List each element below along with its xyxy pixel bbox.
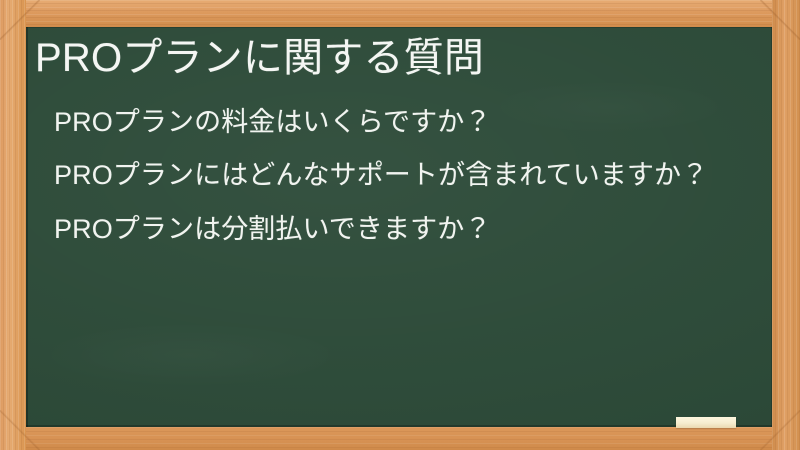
chalkboard-slide: PROプランに関する質問 PROプランの料金はいくらですか？ PROプランにはど… bbox=[0, 0, 800, 450]
frame-rail-right bbox=[772, 0, 800, 450]
page-title: PROプランに関する質問 bbox=[35, 33, 745, 83]
frame-rail-bottom bbox=[0, 427, 800, 450]
chalkboard-surface: PROプランに関する質問 PROプランの料金はいくらですか？ PROプランにはど… bbox=[26, 27, 772, 427]
list-item: PROプランにはどんなサポートが含まれていますか？ bbox=[54, 156, 754, 194]
question-list: PROプランの料金はいくらですか？ PROプランにはどんなサポートが含まれていま… bbox=[54, 103, 754, 248]
chalkboard-content: PROプランに関する質問 PROプランの料金はいくらですか？ PROプランにはど… bbox=[26, 27, 772, 427]
list-item: PROプランは分割払いできますか？ bbox=[54, 210, 754, 248]
list-item: PROプランの料金はいくらですか？ bbox=[54, 103, 754, 141]
frame-rail-top bbox=[0, 0, 800, 27]
frame-rail-left bbox=[0, 0, 26, 450]
